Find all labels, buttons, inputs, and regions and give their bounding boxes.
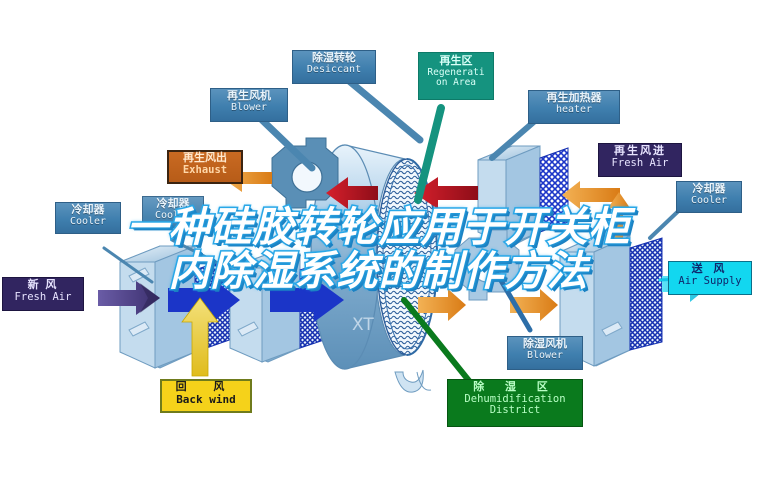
label-exhaust[interactable]: 再生风出 Exhaust	[167, 150, 243, 184]
label-fresh-air-inlet[interactable]: 新 风 Fresh Air	[2, 277, 84, 311]
label-back-wind-en: Back wind	[162, 394, 250, 406]
label-air-supply[interactable]: 送 风 Air Supply	[668, 261, 752, 295]
label-back-wind[interactable]: 回 风 Back wind	[160, 379, 252, 413]
dehumidifier-schematic: XT	[0, 0, 757, 488]
label-dehumidification-district[interactable]: 除 湿 区 Dehumidification District	[447, 379, 583, 427]
label-cooler-mid[interactable]: 冷却器 Cooler	[142, 196, 204, 228]
regeneration-blower-unit	[272, 138, 338, 208]
label-regeneration-air-inlet[interactable]: 再生风进 Fresh Air	[598, 143, 682, 177]
label-desiccant-rotor-en: Desiccant	[293, 65, 375, 76]
label-fresh-air-inlet-en: Fresh Air	[3, 292, 83, 303]
label-dehumidification-blower[interactable]: 除湿风机 Blower	[507, 336, 583, 370]
label-regeneration-heater[interactable]: 再生加热器 heater	[528, 90, 620, 124]
label-regeneration-blower[interactable]: 再生风机 Blower	[210, 88, 288, 122]
label-cooler-left-en: Cooler	[56, 217, 120, 228]
label-regeneration-air-inlet-en: Fresh Air	[599, 158, 681, 169]
label-exhaust-en: Exhaust	[169, 165, 241, 176]
label-cooler-mid-en: Cooler	[143, 211, 203, 222]
rotor-watermark: XT	[352, 315, 374, 335]
label-regeneration-heater-en: heater	[529, 105, 619, 116]
label-dehumidification-district-en2: District	[448, 405, 582, 416]
label-regeneration-blower-en: Blower	[211, 103, 287, 114]
label-regeneration-area-en2: on Area	[419, 78, 493, 88]
label-cooler-left[interactable]: 冷却器 Cooler	[55, 202, 121, 234]
label-air-supply-en: Air Supply	[669, 276, 751, 287]
label-cooler-right[interactable]: 冷却器 Cooler	[676, 181, 742, 213]
label-dehumidification-blower-en: Blower	[508, 351, 582, 362]
label-desiccant-rotor[interactable]: 除湿转轮 Desiccant	[292, 50, 376, 84]
diagram-canvas: XT	[0, 0, 757, 488]
label-regeneration-area[interactable]: 再生区 Regenerati on Area	[418, 52, 494, 100]
label-cooler-right-en: Cooler	[677, 196, 741, 207]
